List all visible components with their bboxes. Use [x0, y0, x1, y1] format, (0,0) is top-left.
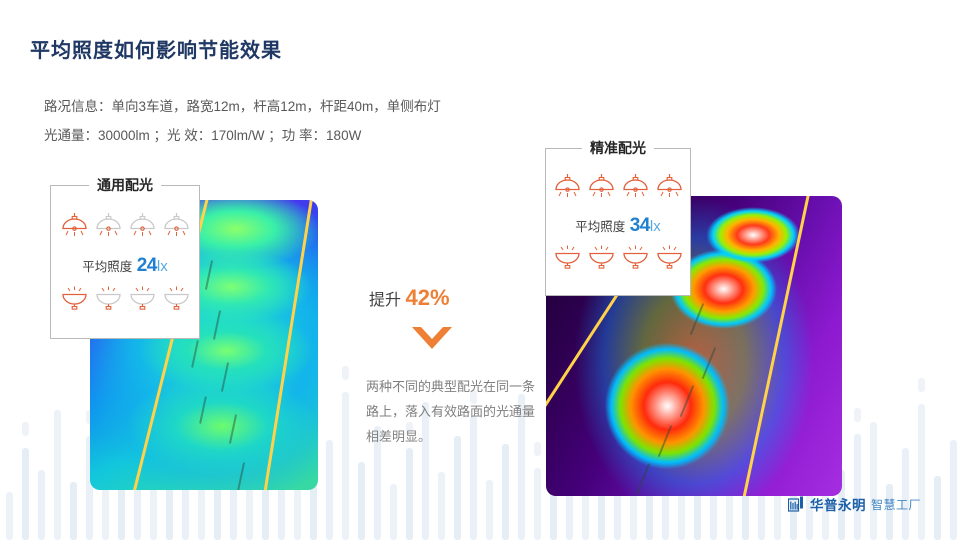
decorative-bar	[870, 422, 877, 540]
decorative-bar	[70, 482, 77, 540]
avg-illuminance-value-left: 24	[137, 255, 157, 276]
decorative-bar	[390, 484, 397, 540]
pendant-lamp-inverted-icon	[60, 286, 89, 311]
avg-illuminance-left: 平均照度 24lx	[51, 255, 199, 277]
huapu-building-mark-icon	[788, 496, 805, 513]
decorative-bar	[6, 492, 13, 540]
uplift-label: 提升	[369, 292, 401, 309]
lamp-row-bottom-right	[546, 245, 690, 270]
decorative-bar	[534, 468, 541, 540]
avg-illuminance-value-right: 34	[630, 215, 650, 236]
avg-illuminance-unit-left: lx	[157, 258, 168, 275]
decorative-bar	[438, 472, 445, 540]
avg-illuminance-label-right: 平均照度	[575, 220, 625, 234]
road-spec-line-1: 路况信息：单向3车道，路宽12m，杆高12m，杆距40m，单侧布灯	[44, 95, 441, 115]
avg-illuminance-label-left: 平均照度	[82, 260, 132, 274]
pendant-lamp-icon	[94, 212, 123, 237]
pendant-lamp-icon	[655, 173, 684, 198]
decorative-bar	[742, 490, 749, 540]
decorative-bar	[406, 448, 413, 540]
decorative-bar	[262, 488, 269, 540]
brand-name: 华普永明	[810, 494, 866, 514]
pendant-lamp-icon	[621, 173, 650, 198]
pendant-lamp-icon	[587, 173, 616, 198]
pendant-lamp-icon	[162, 212, 191, 237]
callout-right-legend: 精准配光	[582, 138, 654, 158]
decorative-bar	[854, 408, 861, 422]
callout-left-legend: 通用配光	[89, 175, 161, 195]
decorative-bar	[918, 378, 925, 392]
decorative-bar	[22, 422, 29, 436]
pendant-lamp-icon	[553, 173, 582, 198]
decorative-bar	[38, 470, 45, 540]
comparison-caption: 两种不同的典型配光在同一条路上，落入有效路面的光通量相差明显。	[366, 374, 542, 449]
page-title: 平均照度如何影响节能效果	[30, 34, 282, 63]
decorative-bar	[326, 440, 333, 540]
decorative-bar	[342, 392, 349, 540]
callout-precision-distribution: 精准配光 平均照度 34lx	[545, 148, 691, 296]
chevron-down-icon	[410, 325, 454, 356]
uplift-readout: 提升 42%	[369, 285, 450, 311]
decorative-bar	[854, 434, 861, 540]
lamp-row-bottom-left	[51, 286, 199, 311]
decorative-bar	[950, 440, 957, 540]
pendant-lamp-inverted-icon	[162, 286, 191, 311]
brand-sub: 智慧工厂	[871, 496, 921, 513]
pendant-lamp-inverted-icon	[94, 286, 123, 311]
avg-illuminance-unit-right: lx	[650, 218, 661, 235]
decorative-bar	[22, 448, 29, 540]
road-spec-line-2: 光通量：30000lm ；光 效：170lm/W ；功 率：180W	[44, 124, 361, 144]
pendant-lamp-icon	[128, 212, 157, 237]
decorative-bar	[358, 462, 365, 540]
pendant-lamp-inverted-icon	[655, 245, 684, 270]
slide-canvas: 平均照度如何影响节能效果 路况信息：单向3车道，路宽12m，杆高12m，杆距40…	[0, 0, 960, 540]
callout-general-distribution: 通用配光 平均照度 24lx	[50, 185, 200, 339]
pendant-lamp-icon	[60, 212, 89, 237]
decorative-bar	[342, 366, 349, 380]
pendant-lamp-inverted-icon	[587, 245, 616, 270]
decorative-bar	[454, 436, 461, 540]
avg-illuminance-right: 平均照度 34lx	[546, 215, 690, 237]
uplift-percent: 42%	[405, 285, 449, 310]
brand-logo: 华普永明 智慧工厂	[788, 494, 921, 514]
pendant-lamp-inverted-icon	[128, 286, 157, 311]
decorative-bar	[918, 404, 925, 540]
decorative-bar	[54, 410, 61, 540]
lamp-row-top-left	[51, 212, 199, 237]
decorative-bar	[934, 476, 941, 540]
decorative-bar	[502, 444, 509, 540]
pendant-lamp-inverted-icon	[553, 245, 582, 270]
pendant-lamp-inverted-icon	[621, 245, 650, 270]
lamp-row-top-right	[546, 173, 690, 198]
decorative-bar	[486, 480, 493, 540]
